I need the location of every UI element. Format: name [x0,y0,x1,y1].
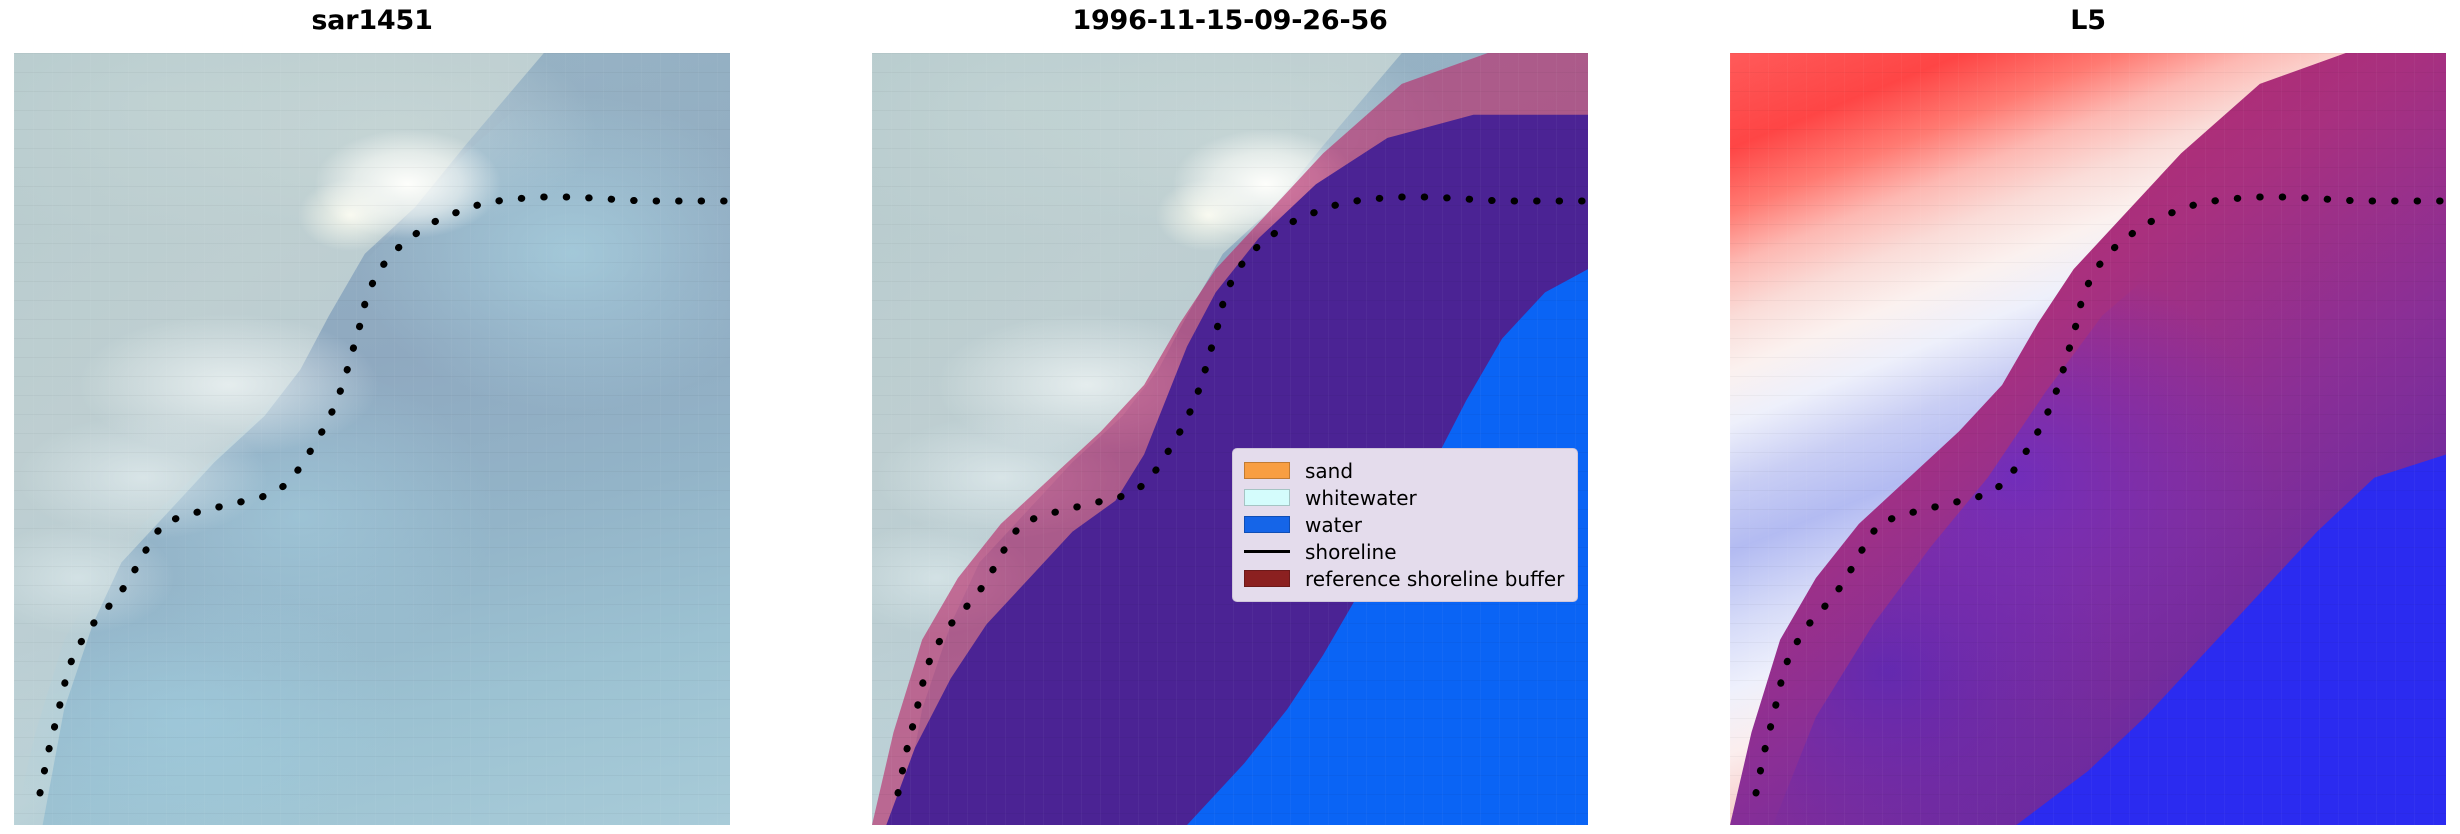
water-swatch-icon [1244,516,1290,533]
panel-classified-axes: sand whitewater water shoreline referenc… [872,53,1588,825]
legend: sand whitewater water shoreline referenc… [1232,448,1578,602]
legend-item-whitewater: whitewater [1244,484,1567,511]
panel-rgb-axes [14,53,730,825]
legend-label-reference-buffer: reference shoreline buffer [1305,569,1564,589]
panel-classified: 1996-11-15-09-26-56 sand [872,0,1588,834]
legend-item-reference-buffer: reference shoreline buffer [1244,565,1567,592]
shoreline-line-icon [1244,543,1290,560]
legend-label-shoreline: shoreline [1305,542,1397,562]
legend-label-water: water [1305,515,1362,535]
legend-item-shoreline: shoreline [1244,538,1567,565]
panel-index: L5 [1730,0,2446,834]
legend-label-sand: sand [1305,461,1353,481]
reference-buffer-swatch-icon [1244,570,1290,587]
sand-swatch-icon [1244,462,1290,479]
panel-rgb-title: sar1451 [14,5,730,36]
panel-index-title: L5 [1730,5,2446,36]
figure-canvas: sar1451 1996-11-15-09-26-56 [0,0,2460,834]
legend-label-whitewater: whitewater [1305,488,1417,508]
panel-classified-title: 1996-11-15-09-26-56 [872,5,1588,36]
whitewater-swatch-icon [1244,489,1290,506]
panel-rgb: sar1451 [14,0,730,834]
panel-index-axes [1730,53,2446,825]
legend-item-water: water [1244,511,1567,538]
legend-item-sand: sand [1244,457,1567,484]
rgb-whitewater-region [14,53,730,825]
